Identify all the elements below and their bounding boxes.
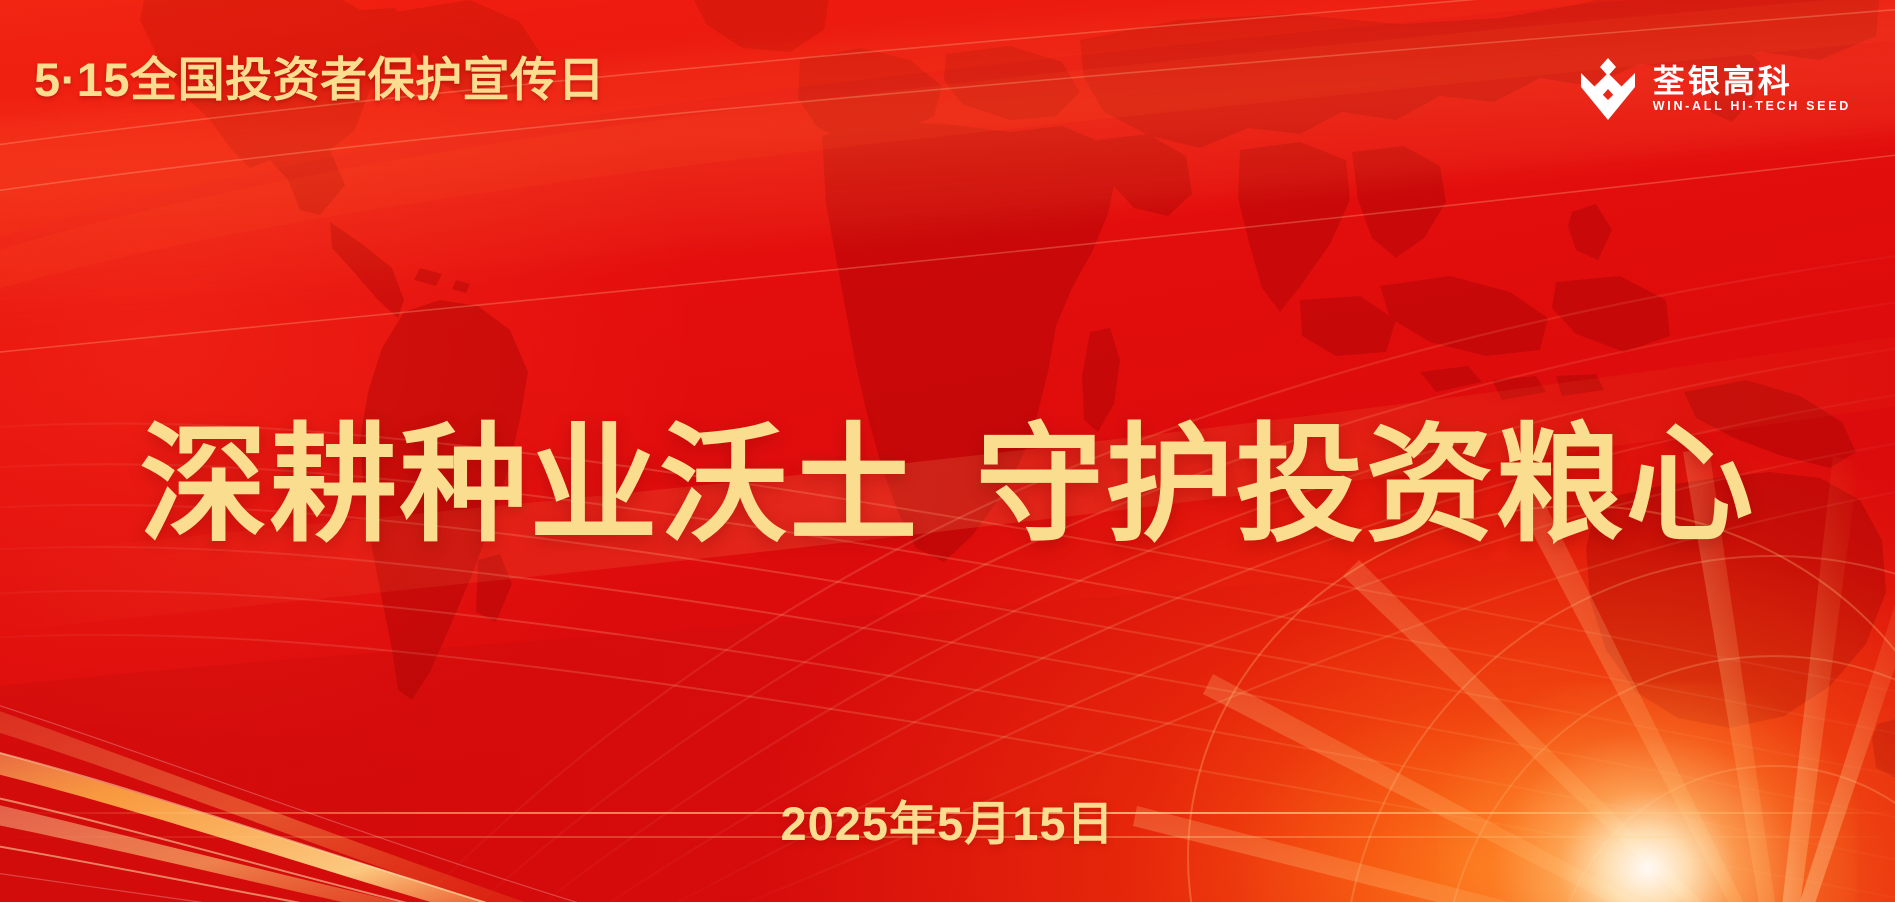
brand-wordmark: 荃银高科 WIN-ALL HI-TECH SEED — [1653, 65, 1851, 113]
campaign-eyebrow-text: 5·15全国投资者保护宣传日 — [34, 56, 605, 103]
brand-name-en: WIN-ALL HI-TECH SEED — [1653, 100, 1851, 113]
brand-name-cn: 荃银高科 — [1653, 65, 1851, 97]
brand-logo-lockup: 荃银高科 WIN-ALL HI-TECH SEED — [1577, 56, 1851, 122]
headline-part-left: 深耕种业沃土 — [139, 414, 919, 557]
headline-part-right: 守护投资粮心 — [976, 414, 1756, 557]
page-title: 深耕种业沃土守护投资粮心 — [0, 414, 1895, 557]
event-date: 2025年5月15日 — [0, 800, 1895, 847]
promotional-banner: 5·15全国投资者保护宣传日 荃银高科 WIN-ALL HI-TECH SEED… — [0, 0, 1895, 902]
chevron-diamond-logo-mark — [1577, 56, 1639, 122]
